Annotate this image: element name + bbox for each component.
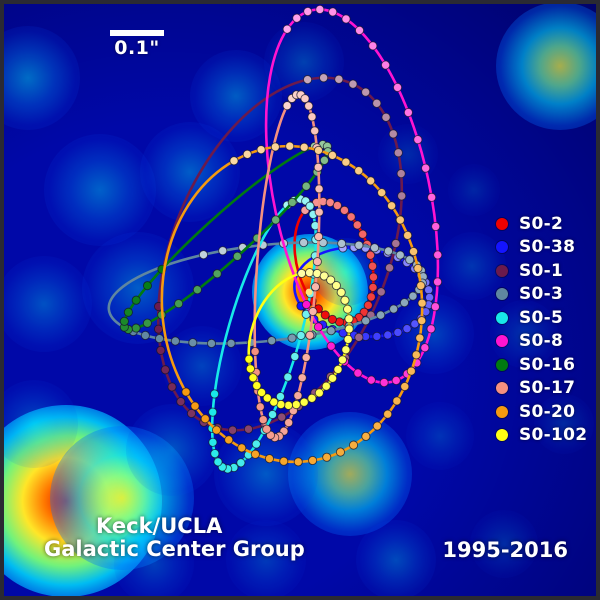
legend-marker-icon bbox=[496, 382, 508, 394]
epoch-range-label: 1995-2016 bbox=[442, 538, 568, 562]
epoch-point bbox=[237, 444, 246, 453]
epoch-point bbox=[393, 328, 402, 337]
epoch-point bbox=[389, 304, 398, 313]
legend-label: S0-1 bbox=[519, 261, 563, 281]
epoch-point bbox=[288, 334, 297, 343]
epoch-point bbox=[368, 261, 378, 271]
epoch-point bbox=[408, 292, 417, 301]
epoch-point bbox=[201, 414, 210, 423]
legend-item-s0-20[interactable]: S0-20 bbox=[496, 400, 587, 424]
epoch-point bbox=[358, 229, 368, 239]
epoch-point bbox=[354, 241, 363, 250]
epoch-point bbox=[155, 334, 164, 343]
legend-label: S0-2 bbox=[519, 214, 563, 234]
epoch-point bbox=[348, 79, 359, 90]
epoch-point bbox=[209, 389, 219, 399]
epoch-point bbox=[304, 102, 313, 111]
credit-line-1: Keck/UCLA bbox=[96, 515, 305, 539]
epoch-point bbox=[336, 448, 345, 457]
epoch-point bbox=[373, 422, 382, 431]
epoch-point bbox=[208, 407, 218, 417]
epoch-point bbox=[243, 424, 254, 435]
epoch-point bbox=[368, 272, 378, 282]
epoch-point bbox=[243, 150, 252, 159]
epoch-point bbox=[302, 74, 313, 85]
epoch-point bbox=[361, 432, 370, 441]
epoch-point bbox=[381, 112, 392, 123]
epoch-point bbox=[251, 450, 260, 459]
epoch-point bbox=[267, 409, 277, 419]
epoch-point bbox=[413, 135, 423, 145]
epoch-point bbox=[396, 191, 407, 202]
epoch-point bbox=[294, 391, 303, 400]
epoch-point bbox=[416, 281, 425, 290]
legend-item-s0-102[interactable]: S0-102 bbox=[496, 424, 587, 448]
legend-label: S0-5 bbox=[519, 308, 563, 328]
epoch-point bbox=[370, 243, 379, 252]
epoch-point bbox=[279, 457, 288, 466]
legend-item-s0-17[interactable]: S0-17 bbox=[496, 377, 587, 401]
epoch-point bbox=[283, 372, 293, 382]
epoch-point bbox=[315, 5, 325, 15]
legend-label: S0-17 bbox=[519, 378, 575, 398]
legend-marker-icon bbox=[496, 288, 508, 300]
legend-marker-icon bbox=[496, 312, 508, 324]
legend-marker-icon bbox=[496, 406, 508, 418]
epoch-point bbox=[303, 7, 313, 17]
legend-item-s0-3[interactable]: S0-3 bbox=[496, 283, 587, 307]
epoch-point bbox=[284, 418, 293, 427]
epoch-point bbox=[313, 257, 322, 266]
epoch-point bbox=[160, 364, 171, 375]
epoch-point bbox=[314, 146, 323, 155]
epoch-point bbox=[123, 306, 135, 318]
epoch-point bbox=[372, 332, 381, 341]
legend-label: S0-102 bbox=[519, 425, 587, 445]
epoch-point bbox=[426, 324, 436, 334]
epoch-point bbox=[427, 192, 437, 202]
epoch-point bbox=[328, 7, 338, 17]
epoch-point bbox=[400, 298, 409, 307]
epoch-point bbox=[400, 382, 409, 391]
legend-marker-icon bbox=[496, 429, 508, 441]
epoch-point bbox=[299, 238, 308, 247]
scale-bar-label: 0.1" bbox=[82, 37, 192, 59]
epoch-point bbox=[421, 163, 431, 173]
legend-label: S0-38 bbox=[519, 237, 575, 257]
epoch-point bbox=[390, 238, 401, 249]
epoch-point bbox=[311, 282, 320, 291]
epoch-point bbox=[227, 339, 236, 348]
epoch-point bbox=[262, 425, 271, 434]
legend-label: S0-8 bbox=[519, 331, 563, 351]
legend-marker-icon bbox=[496, 265, 508, 277]
epoch-point bbox=[188, 338, 197, 347]
scale-bar-line bbox=[110, 30, 164, 36]
epoch-point bbox=[315, 185, 324, 194]
epoch-point bbox=[334, 74, 345, 85]
epoch-point bbox=[379, 378, 389, 388]
epoch-point bbox=[309, 307, 318, 316]
epoch-point bbox=[396, 251, 405, 260]
epoch-point bbox=[391, 376, 401, 386]
legend-item-s0-38[interactable]: S0-38 bbox=[496, 236, 587, 260]
epoch-point bbox=[392, 397, 401, 406]
epoch-point bbox=[244, 354, 254, 364]
epoch-point bbox=[256, 402, 265, 411]
legend-label: S0-20 bbox=[519, 402, 575, 422]
epoch-point bbox=[305, 331, 314, 340]
epoch-point bbox=[257, 145, 266, 154]
epoch-point bbox=[310, 126, 319, 135]
epoch-point bbox=[171, 337, 180, 346]
epoch-point bbox=[259, 415, 268, 424]
epoch-point bbox=[342, 158, 351, 167]
epoch-point bbox=[366, 177, 375, 186]
epoch-point bbox=[314, 163, 323, 172]
epoch-point bbox=[415, 334, 424, 343]
credit-text: Keck/UCLA Galactic Center Group bbox=[96, 515, 305, 562]
epoch-point bbox=[167, 382, 178, 393]
legend-item-s0-5[interactable]: S0-5 bbox=[496, 306, 587, 330]
epoch-point bbox=[308, 112, 317, 121]
epoch-point bbox=[368, 282, 378, 292]
epoch-point bbox=[314, 232, 323, 241]
epoch-point bbox=[383, 330, 392, 339]
epoch-point bbox=[377, 188, 386, 197]
epoch-point bbox=[412, 350, 421, 359]
epoch-point bbox=[315, 208, 324, 217]
epoch-point bbox=[251, 347, 260, 356]
epoch-point bbox=[153, 324, 164, 335]
epoch-point bbox=[290, 351, 300, 361]
epoch-point bbox=[224, 435, 233, 444]
epoch-point bbox=[376, 311, 385, 320]
legend-item-s0-1[interactable]: S0-1 bbox=[496, 259, 587, 283]
epoch-point bbox=[327, 326, 336, 335]
legend-item-s0-8[interactable]: S0-8 bbox=[496, 330, 587, 354]
epoch-point bbox=[267, 336, 276, 345]
epoch-point bbox=[409, 247, 418, 256]
epoch-point bbox=[433, 250, 443, 260]
epoch-point bbox=[337, 239, 346, 248]
epoch-point bbox=[271, 143, 280, 152]
epoch-point bbox=[342, 304, 352, 314]
epoch-point bbox=[387, 201, 396, 210]
epoch-point bbox=[384, 262, 395, 273]
epoch-point bbox=[407, 367, 416, 376]
epoch-point bbox=[142, 317, 154, 329]
epoch-point bbox=[393, 147, 404, 158]
epoch-point bbox=[199, 250, 208, 259]
epoch-point bbox=[230, 156, 239, 165]
legend-label: S0-3 bbox=[519, 284, 563, 304]
legend-item-s0-2[interactable]: S0-2 bbox=[496, 212, 587, 236]
epoch-point bbox=[265, 454, 274, 463]
epoch-point bbox=[285, 142, 294, 151]
epoch-point bbox=[298, 373, 307, 382]
sgr-a-star-marker bbox=[306, 289, 313, 296]
epoch-point bbox=[210, 448, 220, 458]
epoch-point bbox=[420, 343, 430, 353]
epoch-point bbox=[227, 425, 238, 436]
epoch-point bbox=[414, 264, 423, 273]
epoch-point bbox=[403, 231, 412, 240]
epoch-point bbox=[431, 222, 441, 232]
epoch-point bbox=[418, 299, 427, 308]
epoch-point bbox=[155, 345, 166, 356]
epoch-point bbox=[366, 375, 376, 385]
epoch-point bbox=[393, 83, 403, 93]
epoch-point bbox=[366, 292, 376, 302]
epoch-point bbox=[396, 216, 405, 225]
epoch-point bbox=[182, 388, 191, 397]
legend-label: S0-16 bbox=[519, 355, 575, 375]
epoch-point bbox=[207, 339, 216, 348]
legend-marker-icon bbox=[496, 359, 508, 371]
scale-bar: 0.1" bbox=[82, 30, 192, 59]
epoch-point bbox=[417, 316, 426, 325]
epoch-point bbox=[396, 168, 407, 179]
epoch-point bbox=[191, 402, 200, 411]
epoch-point bbox=[218, 246, 227, 255]
epoch-point bbox=[212, 426, 221, 435]
epoch-point bbox=[361, 316, 370, 325]
epoch-point bbox=[141, 331, 150, 340]
epoch-point bbox=[294, 457, 303, 466]
epoch-point bbox=[318, 72, 329, 83]
epoch-point bbox=[354, 166, 363, 175]
figure-canvas: 0.1" S0-2S0-38S0-1S0-3S0-5S0-8S0-16S0-17… bbox=[0, 0, 600, 600]
epoch-point bbox=[388, 129, 399, 140]
epoch-point bbox=[404, 108, 414, 118]
legend-marker-icon bbox=[496, 241, 508, 253]
epoch-point bbox=[328, 151, 337, 160]
credit-line-2: Galactic Center Group bbox=[44, 538, 305, 562]
epoch-point bbox=[383, 410, 392, 419]
epoch-point bbox=[349, 441, 358, 450]
epoch-point bbox=[302, 353, 311, 362]
epoch-point bbox=[433, 277, 443, 287]
legend: S0-2S0-38S0-1S0-3S0-5S0-8S0-16S0-17S0-20… bbox=[496, 212, 587, 447]
epoch-point bbox=[402, 324, 411, 333]
epoch-point bbox=[308, 456, 317, 465]
legend-marker-icon bbox=[496, 335, 508, 347]
legend-marker-icon bbox=[496, 218, 508, 230]
epoch-point bbox=[322, 453, 331, 462]
epoch-point bbox=[384, 247, 393, 256]
legend-item-s0-16[interactable]: S0-16 bbox=[496, 353, 587, 377]
epoch-point bbox=[208, 437, 218, 447]
epoch-point bbox=[296, 330, 306, 340]
epoch-point bbox=[300, 143, 309, 152]
